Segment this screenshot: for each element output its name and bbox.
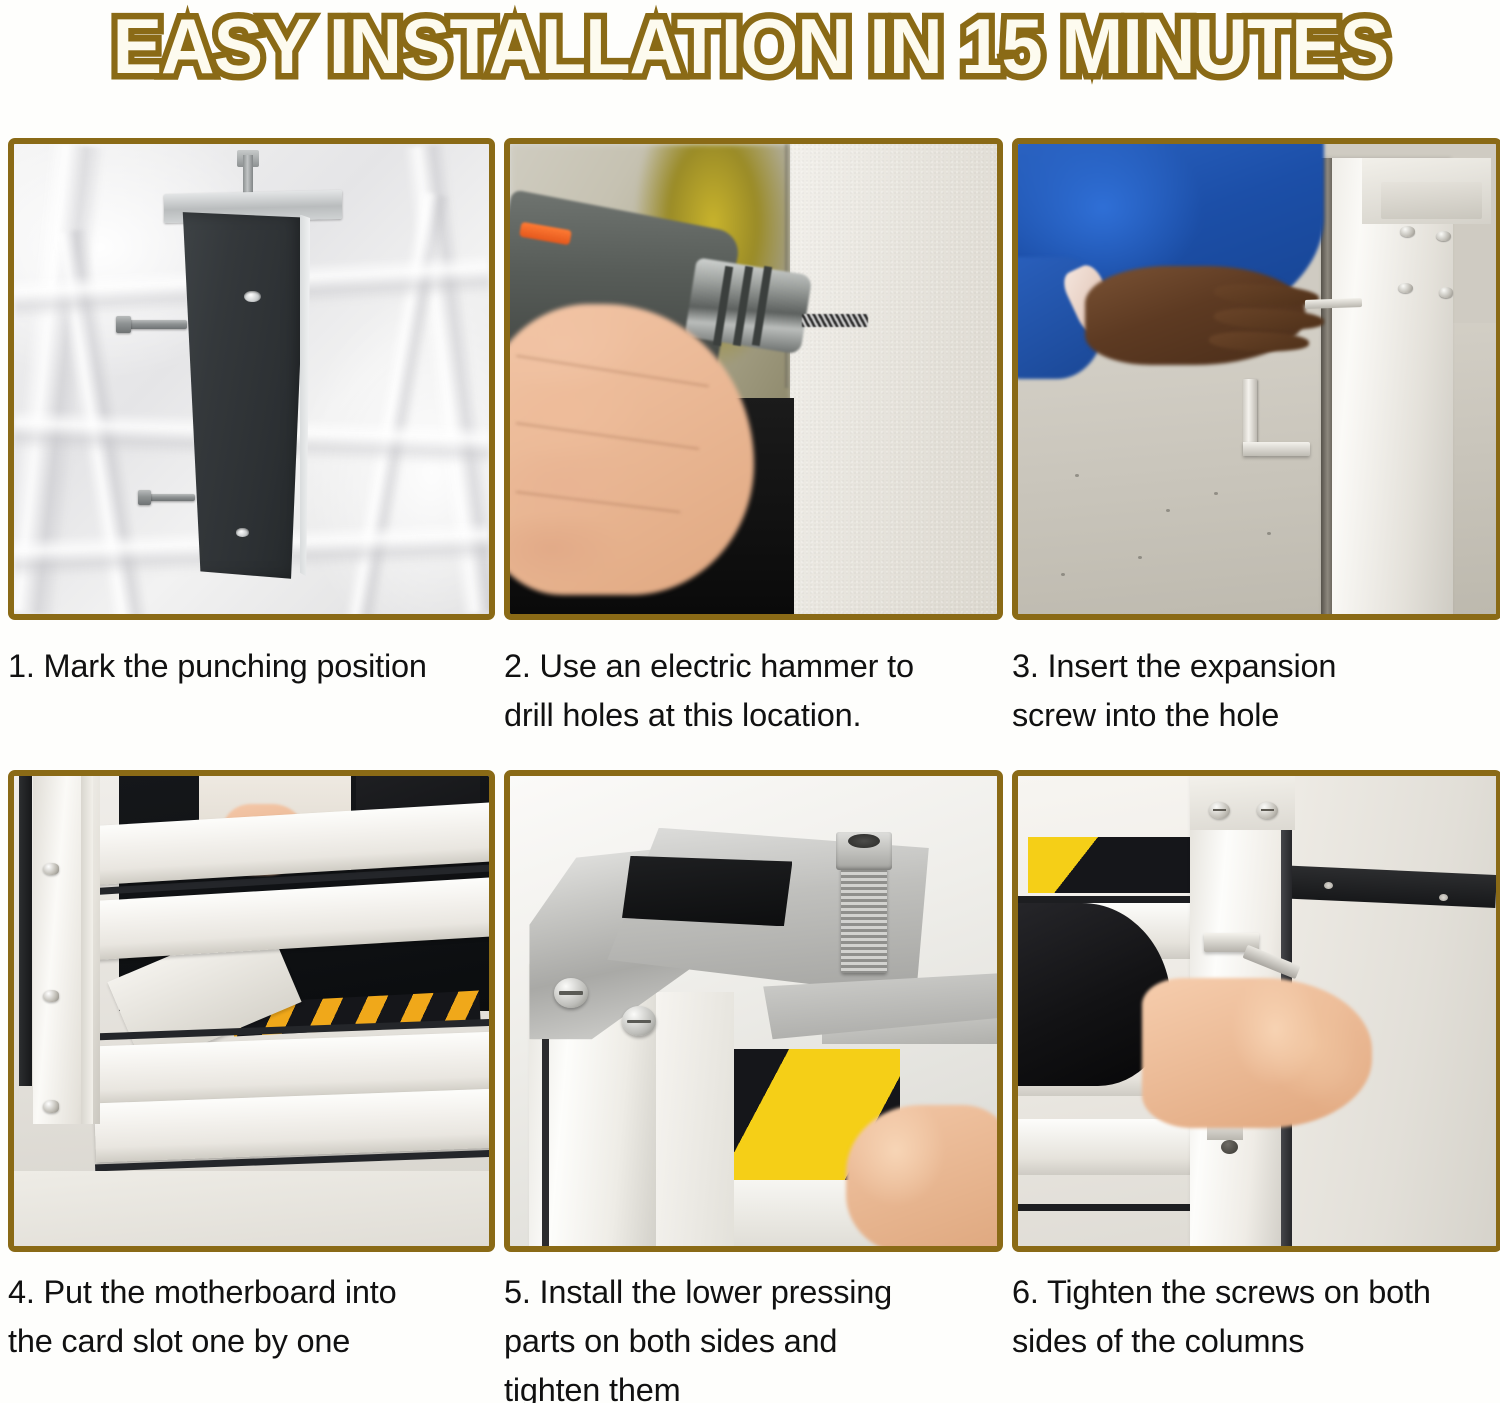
photo-install-pressing-parts [510, 776, 997, 1246]
step-card-2: 2. Use an electric hammer to drill holes… [504, 138, 1003, 770]
step-image-frame-5 [504, 770, 1003, 1252]
step-caption-6: 6. Tighten the screws on both sides of t… [1012, 1268, 1500, 1366]
step-caption-5: 5. Install the lower pressing parts on b… [504, 1268, 1003, 1403]
step-image-frame-3 [1012, 138, 1500, 620]
step-image-frame-1 [8, 138, 495, 620]
step-caption-3: 3. Insert the expansion screw into the h… [1012, 642, 1500, 740]
photo-tighten-column-screws [1018, 776, 1496, 1246]
step-card-5: 5. Install the lower pressing parts on b… [504, 770, 1003, 1400]
step-image-frame-6 [1012, 770, 1500, 1252]
step-card-6: 6. Tighten the screws on both sides of t… [1012, 770, 1500, 1400]
step-card-3: 3. Insert the expansion screw into the h… [1012, 138, 1500, 770]
photo-insert-motherboards [14, 776, 489, 1246]
step-card-4: 4. Put the motherboard into the card slo… [8, 770, 495, 1400]
title-banner: EASY INSTALLATION IN 15 MINUTES [0, 0, 1500, 92]
step-card-1: 1. Mark the punching position [8, 138, 495, 770]
page-title: EASY INSTALLATION IN 15 MINUTES [112, 7, 1388, 85]
photo-drill-holes [510, 144, 997, 614]
photo-mark-punching-position [14, 144, 489, 614]
step-caption-4: 4. Put the motherboard into the card slo… [8, 1268, 495, 1366]
step-caption-2: 2. Use an electric hammer to drill holes… [504, 642, 1003, 740]
steps-grid: 1. Mark the punching position [8, 138, 1494, 1400]
photo-insert-expansion-screw [1018, 144, 1496, 614]
step-caption-1: 1. Mark the punching position [8, 642, 495, 691]
step-image-frame-2 [504, 138, 1003, 620]
instruction-sheet: EASY INSTALLATION IN 15 MINUTES 1. Mark … [0, 0, 1500, 1403]
step-image-frame-4 [8, 770, 495, 1252]
